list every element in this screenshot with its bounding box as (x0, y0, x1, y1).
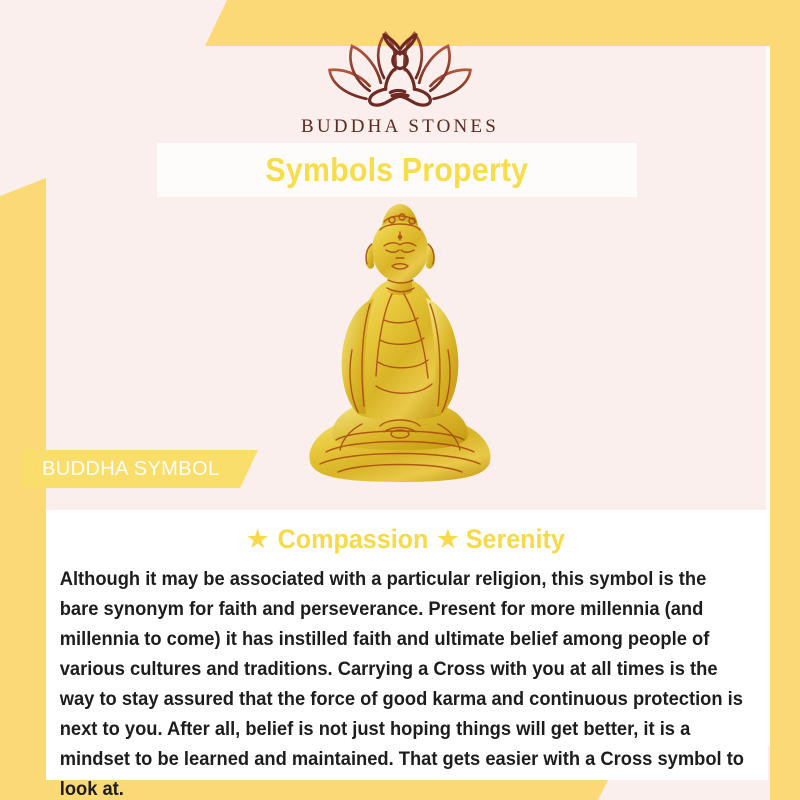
brand-logo: BUDDHA STONES (0, 22, 800, 138)
keyword-serenity: Serenity (466, 524, 565, 555)
title-banner: Symbols Property (157, 143, 637, 197)
hero-image (0, 200, 800, 490)
keyword-compassion: Compassion (277, 524, 428, 555)
star-icon-left: ★ (245, 526, 269, 553)
content-card: ★ Compassion ★ Serenity Although it may … (46, 510, 768, 780)
buddha-symbol-tag: BUDDHA SYMBOL (22, 450, 258, 488)
brand-name: BUDDHA STONES (301, 116, 499, 138)
buddha-symbol-tag-label: BUDDHA SYMBOL (22, 458, 219, 481)
description-paragraph: Although it may be associated with a par… (54, 565, 761, 800)
star-icon-middle: ★ (436, 526, 460, 553)
poster-page: BUDDHA STONES Symbols Property (0, 0, 800, 800)
keywords-row: ★ Compassion ★ Serenity (54, 524, 760, 555)
page-title: Symbols Property (266, 151, 529, 189)
golden-buddha-statue-icon (292, 200, 508, 490)
lotus-meditation-icon (320, 22, 480, 110)
